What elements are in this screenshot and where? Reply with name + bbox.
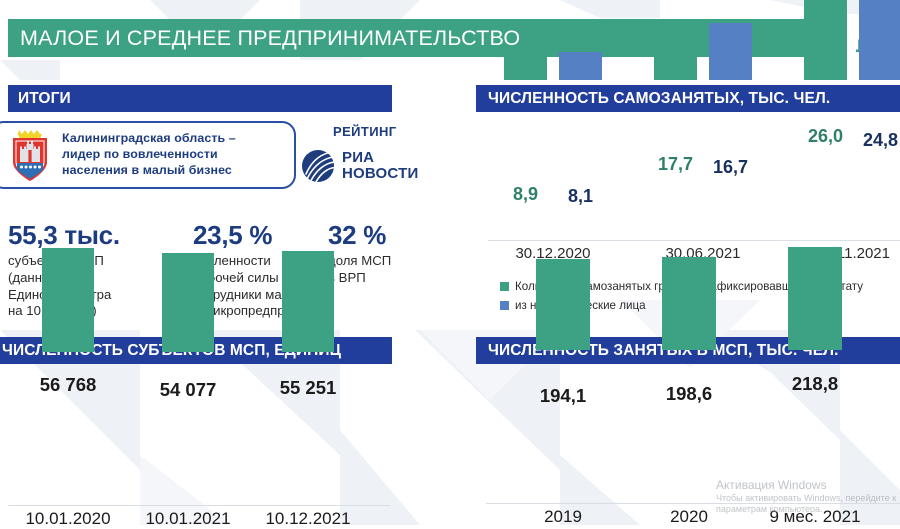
chart-value-label: 198,6 xyxy=(650,383,728,405)
chart-bar xyxy=(536,259,590,350)
chart-bar xyxy=(42,248,94,352)
chart-bar xyxy=(559,52,602,80)
chart-value-label: 55 251 xyxy=(270,377,346,399)
rating-label: РЕЙТИНГ xyxy=(333,124,397,139)
chart-value-label: 218,8 xyxy=(776,373,854,395)
chart-value-label: 194,1 xyxy=(524,385,602,407)
chart-employed: 194,12019198,62020218,89 мес. 2021 xyxy=(476,372,900,525)
kaliningrad-leader-line-1: Калининградская область – xyxy=(62,131,236,147)
chart-bar xyxy=(662,257,716,350)
ria-line-2: НОВОСТИ xyxy=(342,166,418,182)
legend-swatch-icon xyxy=(500,301,509,310)
chart-value-label: 54 077 xyxy=(150,379,226,401)
stat-description: доля МСПв ВРП xyxy=(328,253,458,286)
stat-value: 23,5 % xyxy=(193,222,343,249)
section-header-samozanyatye: ЧИСЛЕННОСТЬ САМОЗАНЯТЫХ, ТЫС. ЧЕЛ. xyxy=(476,85,900,112)
chart-category-label: 2020 xyxy=(619,507,759,527)
chart-value-label: 56 768 xyxy=(30,374,106,396)
chart-bar xyxy=(788,247,842,350)
chart-axis-line xyxy=(486,503,900,504)
chart-bar xyxy=(282,251,334,352)
chart-category-label: 10.01.2021 xyxy=(118,509,258,529)
ria-novosti-text: РИА НОВОСТИ xyxy=(342,150,418,182)
kaliningrad-coat-of-arms-icon xyxy=(8,127,52,183)
section-header-employed-label: ЧИСЛЕННОСТЬ ЗАНЯТЫХ В МСП, ТЫС. ЧЕЛ. xyxy=(476,342,839,360)
chart-value-label: 24,8 xyxy=(847,130,900,151)
legend-swatch-icon xyxy=(500,282,509,291)
chart-bar xyxy=(859,0,900,80)
chart-bar xyxy=(804,0,847,80)
page-title: МАЛОЕ И СРЕДНЕЕ ПРЕДПРИНИМАТЕЛЬСТВО xyxy=(8,26,520,51)
kaliningrad-leader-text: Калининградская область – лидер по вовле… xyxy=(62,131,236,179)
kaliningrad-leader-line-3: населения в малый бизнес xyxy=(62,163,236,179)
section-header-itogi: ИТОГИ xyxy=(8,85,392,112)
chart-bar xyxy=(504,50,547,80)
stat-value: 55,3 тыс. xyxy=(8,222,178,249)
kaliningrad-leader-line-2: лидер по вовлеченности xyxy=(62,147,236,163)
section-header-itogi-label: ИТОГИ xyxy=(8,90,71,108)
chart-bar xyxy=(654,20,697,80)
chart-value-label: 8,1 xyxy=(547,186,614,207)
chart-axis-line xyxy=(8,505,390,506)
ria-line-1: РИА xyxy=(342,150,418,166)
stat-value: 32 % xyxy=(328,222,458,249)
stat-item: 32 % доля МСПв ВРП xyxy=(328,222,458,287)
chart-category-label: 10.12.2021 xyxy=(238,509,378,529)
chart-value-label: 16,7 xyxy=(697,157,764,178)
section-header-samozanyatye-label: ЧИСЛЕННОСТЬ САМОЗАНЯТЫХ, ТЫС. ЧЕЛ. xyxy=(476,90,830,108)
chart-bar xyxy=(162,253,214,352)
kaliningrad-leader-card: Калининградская область – лидер по вовле… xyxy=(0,121,296,189)
ria-novosti-logo-icon xyxy=(300,148,336,184)
chart-axis-line xyxy=(488,240,900,241)
stat-description-line: доля МСП xyxy=(328,253,458,270)
chart-bar xyxy=(709,23,752,80)
chart-subjects: 56 76810.01.202054 07710.01.202155 25110… xyxy=(0,372,400,525)
stat-description-line: в ВРП xyxy=(328,270,458,287)
chart-category-label: 2019 xyxy=(493,507,633,527)
ria-novosti-logo: РИА НОВОСТИ xyxy=(300,148,418,184)
chart-category-label: 9 мес. 2021 xyxy=(745,507,885,527)
